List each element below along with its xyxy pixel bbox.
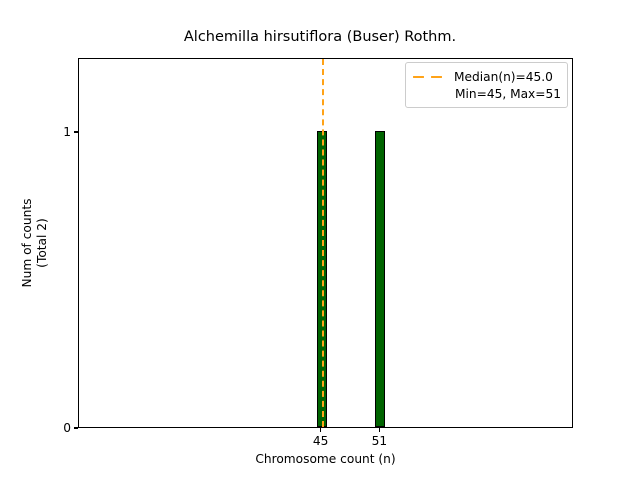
chart-title: Alchemilla hirsutiflora (Buser) Rothm. bbox=[0, 29, 640, 45]
y-tick-label: 0 bbox=[0, 421, 78, 435]
x-tick-mark bbox=[320, 428, 321, 432]
plot-inner bbox=[79, 59, 572, 427]
x-axis-label: Chromosome count (n) bbox=[78, 452, 573, 466]
legend-label-minmax: Min=45, Max=51 bbox=[412, 87, 561, 101]
y-axis-label-line-2: (Total 2) bbox=[35, 123, 49, 363]
chart-figure: Alchemilla hirsutiflora (Buser) Rothm. 0… bbox=[0, 0, 640, 480]
dashed-line-icon bbox=[412, 71, 448, 83]
x-tick-label: 45 bbox=[291, 434, 351, 448]
legend-entry-minmax: Min=45, Max=51 bbox=[412, 85, 561, 102]
legend-label-median: Median(n)=45.0 bbox=[454, 70, 561, 84]
median-line bbox=[322, 59, 324, 427]
x-tick-label: 51 bbox=[349, 434, 409, 448]
bar bbox=[375, 131, 385, 427]
x-tick-mark bbox=[379, 428, 380, 432]
chart-legend: Median(n)=45.0 Min=45, Max=51 bbox=[405, 62, 568, 108]
legend-entry-median: Median(n)=45.0 bbox=[412, 68, 561, 85]
plot-area bbox=[78, 58, 573, 428]
y-axis-label-line-1: Num of counts bbox=[20, 123, 34, 363]
